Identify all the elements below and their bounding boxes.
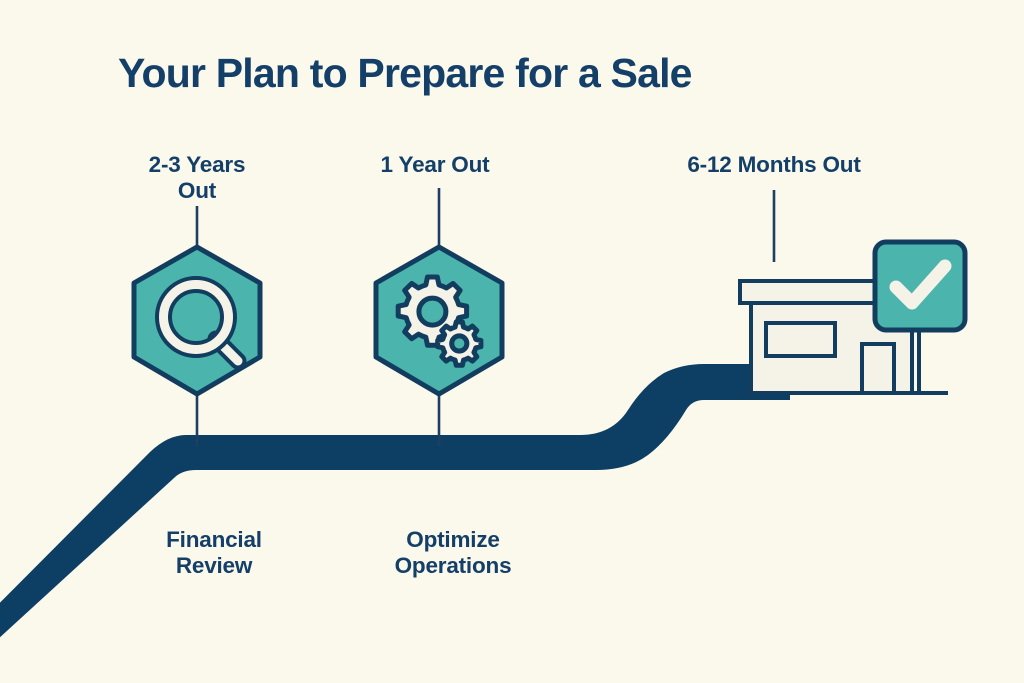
hexagon-shape	[134, 247, 260, 394]
stage-label-2: Optimize Operations	[353, 527, 553, 579]
building-window	[766, 323, 835, 356]
building-door	[862, 344, 894, 393]
gear-large-hub	[419, 298, 446, 325]
stage-time-1: 2-3 Years Out	[97, 152, 297, 204]
stage-marker-storefront[interactable]	[740, 242, 965, 393]
stage-marker-hexagon-1[interactable]	[134, 247, 260, 394]
infographic-canvas: Your Plan to Prepare for a Sale 2-3 Year…	[0, 0, 1024, 683]
stage-time-2: 1 Year Out	[335, 152, 535, 178]
gear-small-hub	[452, 336, 467, 351]
stage-time-3: 6-12 Months Out	[648, 152, 900, 178]
stage-marker-hexagon-2[interactable]	[376, 247, 502, 394]
road-shape	[0, 364, 790, 683]
infographic-artwork	[0, 0, 1024, 683]
timeline-road	[0, 364, 790, 683]
stage-label-1: Financial Review	[114, 527, 314, 579]
page-title: Your Plan to Prepare for a Sale	[118, 50, 692, 97]
